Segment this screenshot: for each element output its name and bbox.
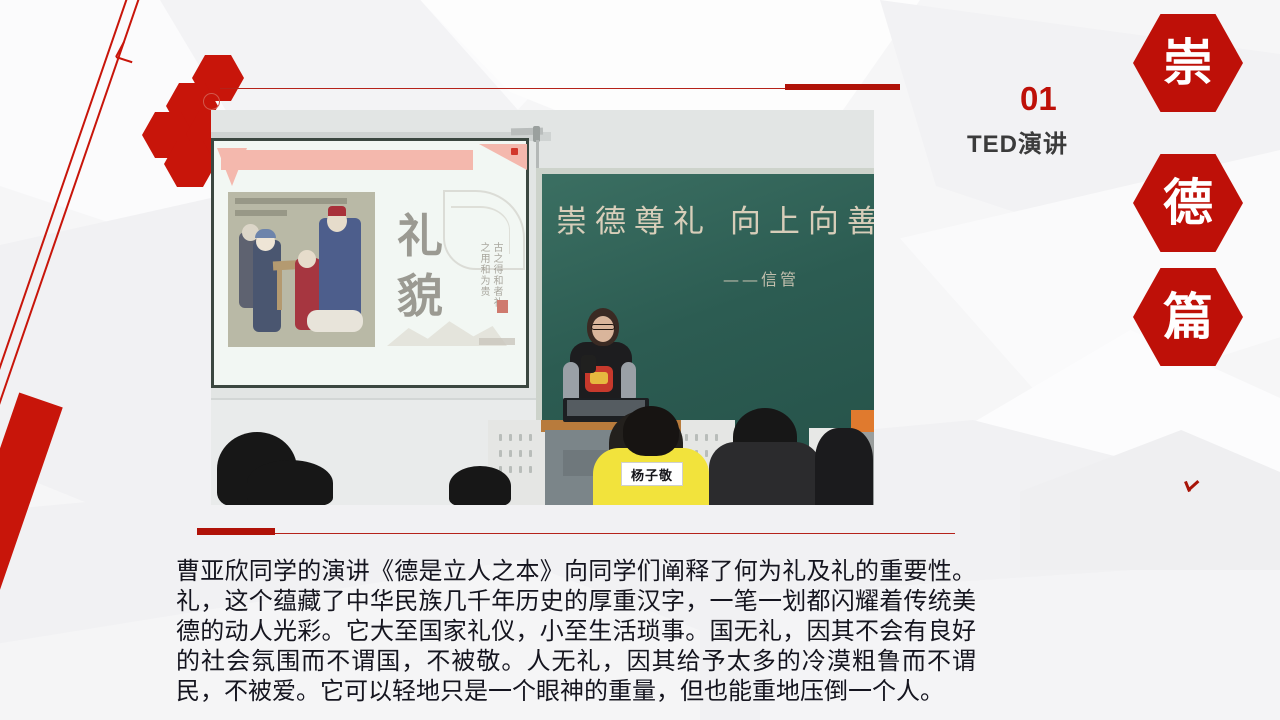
section-title: TED演讲 — [967, 124, 1068, 159]
header-divider-accent — [785, 84, 900, 90]
projected-slide-sidetext: 古之得和者礼之用和为贵 — [459, 242, 503, 308]
body-divider-accent — [197, 528, 275, 535]
name-badge: 杨子敬 — [621, 462, 683, 486]
body-divider — [197, 533, 955, 534]
glasses-icon — [591, 324, 615, 330]
section-number: 01 — [1020, 80, 1057, 118]
presentation-slide: ➔ 01 TED演讲 崇 德 篇 礼貌 古之得和者礼之用和 — [0, 0, 1280, 720]
classroom-photo: 礼貌 古之得和者礼之用和为贵 崇德尊礼 向上向善 ——信管 — [211, 110, 874, 505]
blackboard-headline: 崇德尊礼 向上向善 — [556, 196, 874, 241]
circle-arrow-icon: ➔ — [203, 93, 220, 110]
blackboard-subline: ——信管 — [723, 266, 874, 290]
projected-slide-title: 礼貌 — [391, 206, 449, 336]
chevron-down-right-icon — [1186, 481, 1202, 497]
body-paragraph: 曹亚欣同学的演讲《德是立人之本》向同学们阐释了何为礼及礼的重要性。礼，这个蕴藏了… — [176, 556, 976, 706]
arrow-up-icon — [116, 56, 142, 82]
